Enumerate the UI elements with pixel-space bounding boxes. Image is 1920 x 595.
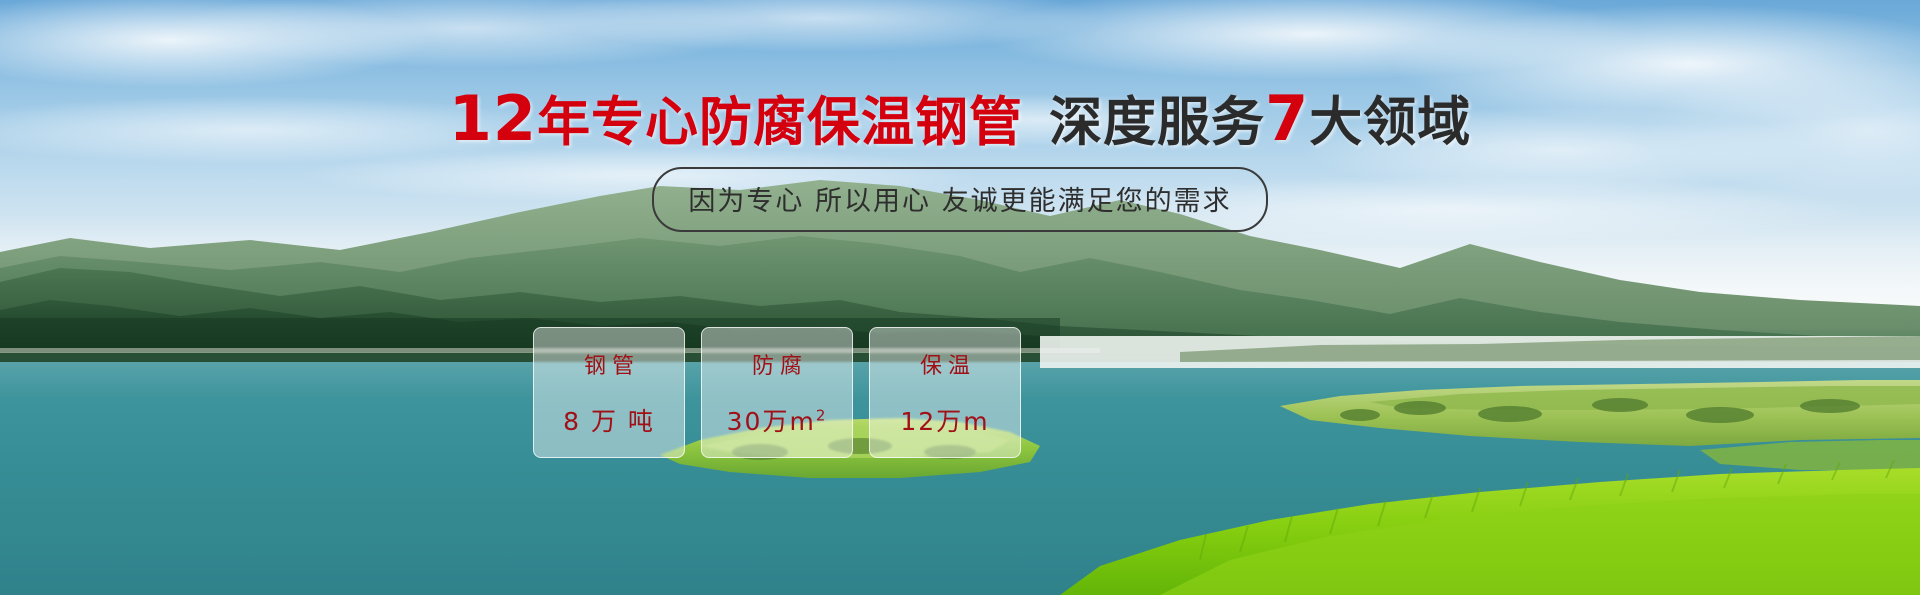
- stat-card-title: 保温: [914, 348, 976, 380]
- headline-years-number: 12: [449, 82, 537, 155]
- stat-card-value: 8 万 吨: [563, 402, 655, 438]
- stat-card-value-text: 30万m: [727, 407, 816, 436]
- stat-card-insulation[interactable]: 保温 12万m: [869, 327, 1021, 458]
- stat-card-value: 30万m2: [727, 402, 828, 438]
- headline-part-two: 深度服务: [1049, 92, 1265, 153]
- stat-card-value-text: 12万m: [900, 407, 989, 436]
- stat-card-anticorrosion[interactable]: 防腐 30万m2: [701, 327, 853, 458]
- stat-card-value-sup: 2: [816, 406, 828, 424]
- stat-card-value: 12万m: [900, 402, 989, 438]
- subtitle-pill: 因为专心 所以用心 友诚更能满足您的需求: [652, 167, 1267, 232]
- subtitle-row: 因为专心 所以用心 友诚更能满足您的需求: [0, 167, 1920, 232]
- stat-card-title: 钢管: [578, 348, 640, 380]
- stat-card-steel-pipe[interactable]: 钢管 8 万 吨: [533, 327, 685, 458]
- page-title: 12年专心防腐保温钢管深度服务7大领域: [0, 84, 1920, 153]
- stat-card-group: 钢管 8 万 吨 防腐 30万m2 保温 12万m: [533, 327, 1021, 458]
- hero-banner: 12年专心防腐保温钢管深度服务7大领域 因为专心 所以用心 友诚更能满足您的需求…: [0, 0, 1920, 595]
- headline-part-three: 大领域: [1309, 92, 1471, 153]
- headline-fields-number: 7: [1265, 82, 1309, 155]
- stat-card-value-text: 8 万 吨: [563, 407, 655, 436]
- headline-part-one: 年专心防腐保温钢管: [537, 92, 1023, 153]
- stat-card-title: 防腐: [746, 348, 808, 380]
